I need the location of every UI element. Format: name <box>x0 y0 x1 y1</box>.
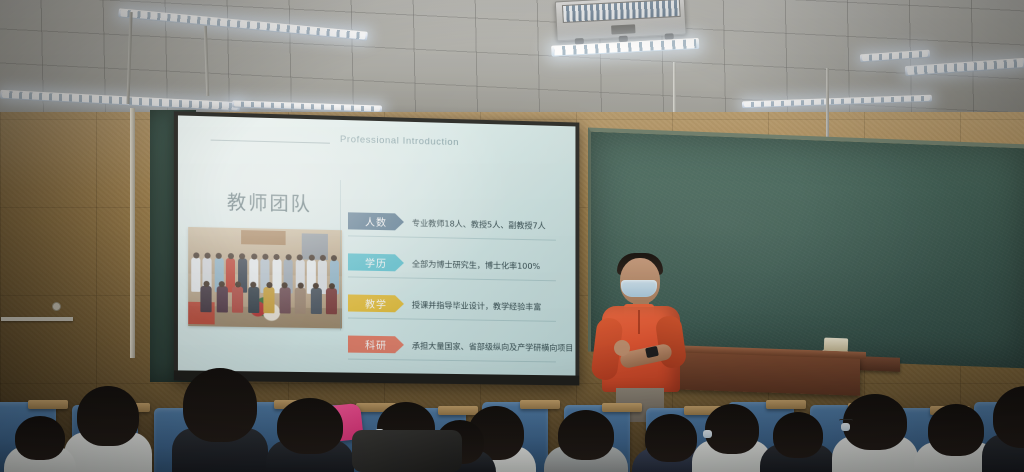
audience-member <box>828 394 922 472</box>
photo-person-head <box>308 255 314 261</box>
audience-member-head <box>705 404 759 454</box>
podium-chalk-box[interactable] <box>824 338 848 352</box>
audience-member-head <box>77 386 139 446</box>
slide-vertical-rule <box>340 180 341 330</box>
photo-person-head <box>262 254 268 260</box>
photo-person <box>200 286 211 312</box>
photo-person <box>310 288 321 314</box>
audience-member <box>978 386 1024 472</box>
vertical-conduit-pipe <box>130 108 135 358</box>
ceiling <box>0 0 1024 128</box>
slide-bullet-row: 人数专业教师18人、教授5人、副教授7人 <box>348 212 575 247</box>
slide-row-tag: 学历 <box>348 253 404 271</box>
audience-member <box>262 398 358 472</box>
lecture-hall-scene: Professional Introduction 教师团队 人数专业教师18人… <box>0 0 1024 472</box>
photo-person-head <box>250 282 256 288</box>
slide-kicker-text: Professional Introduction <box>340 134 459 148</box>
photo-person-head <box>274 254 280 260</box>
projection-screen-frame: Professional Introduction 教师团队 人数专业教师18人… <box>174 111 580 385</box>
photo-person-head <box>331 255 337 261</box>
audience-member <box>168 368 272 472</box>
photo-person-head <box>216 253 222 259</box>
photo-person-head <box>328 283 334 289</box>
presenter-hand <box>614 340 630 356</box>
slide-row-tag: 人数 <box>348 212 404 230</box>
slide-bullet-row: 学历全部为博士研究生，博士化率100% <box>348 253 575 287</box>
slide-row-tag: 科研 <box>348 336 404 354</box>
slide-bullet-row: 教学授课并指导毕业设计，教学经验丰富 <box>348 294 575 328</box>
photo-person-head <box>203 281 209 287</box>
chalkboard-hanging-rod <box>826 68 829 142</box>
slide-row-text: 全部为博士研究生，博士化率100% <box>412 258 540 272</box>
photo-person-head <box>228 253 234 259</box>
slide-divider-line <box>211 140 330 144</box>
photo-person-head <box>320 255 326 261</box>
slide-row-text: 承担大量国家、省部级纵向及产学研横向项目 <box>412 339 573 353</box>
dark-backpack[interactable] <box>352 430 462 472</box>
photo-person <box>279 287 290 313</box>
presenter-face-mask <box>621 280 657 297</box>
photo-person <box>295 287 306 313</box>
ceiling-shading <box>0 0 1024 128</box>
audience-member <box>0 416 80 472</box>
photo-person-head <box>204 253 210 259</box>
photo-person <box>248 287 259 313</box>
photo-person <box>216 286 227 312</box>
photo-person-head <box>219 281 225 287</box>
slide-row-underline <box>348 235 556 240</box>
photo-person-head <box>251 253 257 259</box>
audience-eyeglasses <box>839 419 853 423</box>
photo-person <box>232 286 243 312</box>
audience-member-head <box>928 404 984 456</box>
slide-title: 教师团队 <box>227 187 312 216</box>
slide-bullet-rows: 人数专业教师18人、教授5人、副教授7人学历全部为博士研究生，博士化率100%教… <box>348 212 575 375</box>
photo-person-head <box>193 252 199 258</box>
presenter <box>586 252 698 420</box>
presenter-shirt-placket <box>638 310 640 334</box>
photo-person <box>191 257 200 292</box>
slide-row-tag: 教学 <box>348 294 404 312</box>
audience-member-head <box>183 368 257 442</box>
audience-member <box>540 410 632 472</box>
photo-person-head <box>282 282 288 288</box>
slide-bullet-row: 科研承担大量国家、省部级纵向及产学研横向项目 <box>348 336 575 369</box>
audience-face-mask <box>703 430 712 438</box>
audience-member-head <box>15 416 65 460</box>
audience-member-head <box>773 412 823 458</box>
photo-person-head <box>239 253 245 259</box>
photo-person-head <box>313 283 319 289</box>
photo-person-head <box>297 283 303 289</box>
audience-member-head <box>277 398 343 454</box>
faculty-group-photo <box>188 227 342 328</box>
photo-person <box>326 288 337 314</box>
photo-banner <box>241 230 286 245</box>
audience-face-mask <box>841 423 850 431</box>
slide-row-text: 授课并指导毕业设计，教学经验丰富 <box>412 299 541 313</box>
slide-row-text: 专业教师18人、教授5人、副教授7人 <box>412 217 546 232</box>
photo-person <box>263 287 274 313</box>
photo-person-head <box>297 254 303 260</box>
slide-row-underline <box>348 317 556 321</box>
photo-person-head <box>234 281 240 287</box>
slide-row-underline <box>348 276 556 281</box>
photo-person-head <box>266 282 272 288</box>
slide-row-underline <box>348 359 556 363</box>
audience-member-head <box>558 410 614 460</box>
projection-screen: Professional Introduction 教师团队 人数专业教师18人… <box>178 115 576 375</box>
presentation-slide: Professional Introduction 教师团队 人数专业教师18人… <box>178 115 576 375</box>
photo-person-head <box>285 254 291 260</box>
